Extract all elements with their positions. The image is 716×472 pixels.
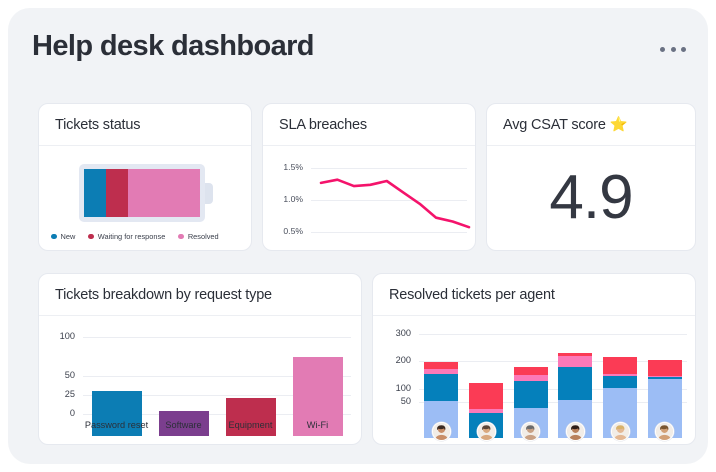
battery-segment [128,169,200,217]
y-axis-tick-label: 300 [375,328,411,338]
card-header: Resolved tickets per agent [373,274,695,316]
stack-segment [514,367,548,376]
x-axis-tick-label: Password reset [83,419,150,431]
line-series [263,146,476,251]
y-axis-tick-label: 50 [375,396,411,406]
card-header: Tickets breakdown by request type [39,274,361,316]
card-sla-breaches: SLA breaches 1.5%1.0%0.5% [262,103,476,251]
legend: NewWaiting for responseResolved [51,232,219,241]
card-body: 30020010050 [373,316,695,444]
x-axis-tick-label: Wi-Fi [284,419,351,431]
stack-segment [558,367,592,400]
battery-segments [84,169,200,217]
y-axis-tick-label: 100 [43,331,75,341]
x-axis-tick-label: Software [150,419,217,431]
card-body: 10050250Password resetSoftwareEquipmentW… [39,316,361,444]
y-axis-tick-label: 0 [43,408,75,418]
legend-item: New [51,232,75,241]
kebab-menu-icon[interactable] [660,42,686,56]
page-title: Help desk dashboard [32,30,314,63]
card-tickets-breakdown: Tickets breakdown by request type 100502… [38,273,362,445]
card-title: Resolved tickets per agent [389,287,555,303]
legend-color-dot [51,234,57,240]
card-csat: Avg CSAT score ⭐ 4.9 [486,103,696,251]
card-body: 1.5%1.0%0.5% [263,146,475,250]
x-axis-tick-label: Equipment [217,419,284,431]
avatar[interactable] [566,422,585,441]
battery-segment [84,169,106,217]
y-axis-tick-label: 100 [375,383,411,393]
legend-label: New [61,232,76,241]
battery-gauge [79,164,211,222]
y-axis-tick-label: 200 [375,355,411,365]
legend-label: Waiting for response [98,232,166,241]
stack-segment [603,376,637,388]
legend-color-dot [88,234,94,240]
legend-color-dot [178,234,184,240]
stack-segment [424,362,458,369]
legend-item: Resolved [178,232,218,241]
card-header: Avg CSAT score ⭐ [487,104,695,146]
avatar[interactable] [432,422,451,441]
card-header: SLA breaches [263,104,475,146]
card-title: SLA breaches [279,117,367,133]
stack-segment [514,381,548,408]
stack-segment [648,360,682,376]
card-title: Tickets status [55,117,140,133]
legend-label: Resolved [188,232,219,241]
card-resolved-per-agent: Resolved tickets per agent 30020010050 [372,273,696,445]
card-tickets-status: Tickets status NewWaiting for responseRe… [38,103,252,251]
avatar[interactable] [477,422,496,441]
dashboard-header: Help desk dashboard [32,30,686,82]
card-header: Tickets status [39,104,251,146]
avatar[interactable] [655,422,674,441]
sla-line-chart: 1.5%1.0%0.5% [263,146,475,250]
battery-shell [79,164,205,222]
battery-segment [106,169,128,217]
card-body: NewWaiting for responseResolved [39,146,251,250]
breakdown-bar-chart: 10050250Password resetSoftwareEquipmentW… [39,316,361,444]
stack-segment [603,357,637,374]
battery-tip-icon [205,183,213,204]
stack-segment [424,374,458,402]
y-axis-tick-label: 50 [43,370,75,380]
legend-item: Waiting for response [88,232,165,241]
card-title: Avg CSAT score ⭐ [503,116,627,133]
csat-score-value: 4.9 [487,167,695,229]
avatar[interactable] [521,422,540,441]
card-body: 4.9 [487,146,695,250]
stack-segment [558,356,592,367]
dashboard-root: Help desk dashboard Tickets status NewWa… [8,8,708,464]
y-axis-tick-label: 25 [43,389,75,399]
stack-segment [469,383,503,408]
agents-stacked-bar-chart: 30020010050 [373,316,695,444]
avatar[interactable] [611,422,630,441]
grid-line [83,337,351,338]
card-title: Tickets breakdown by request type [55,287,272,303]
grid-line [419,334,687,335]
